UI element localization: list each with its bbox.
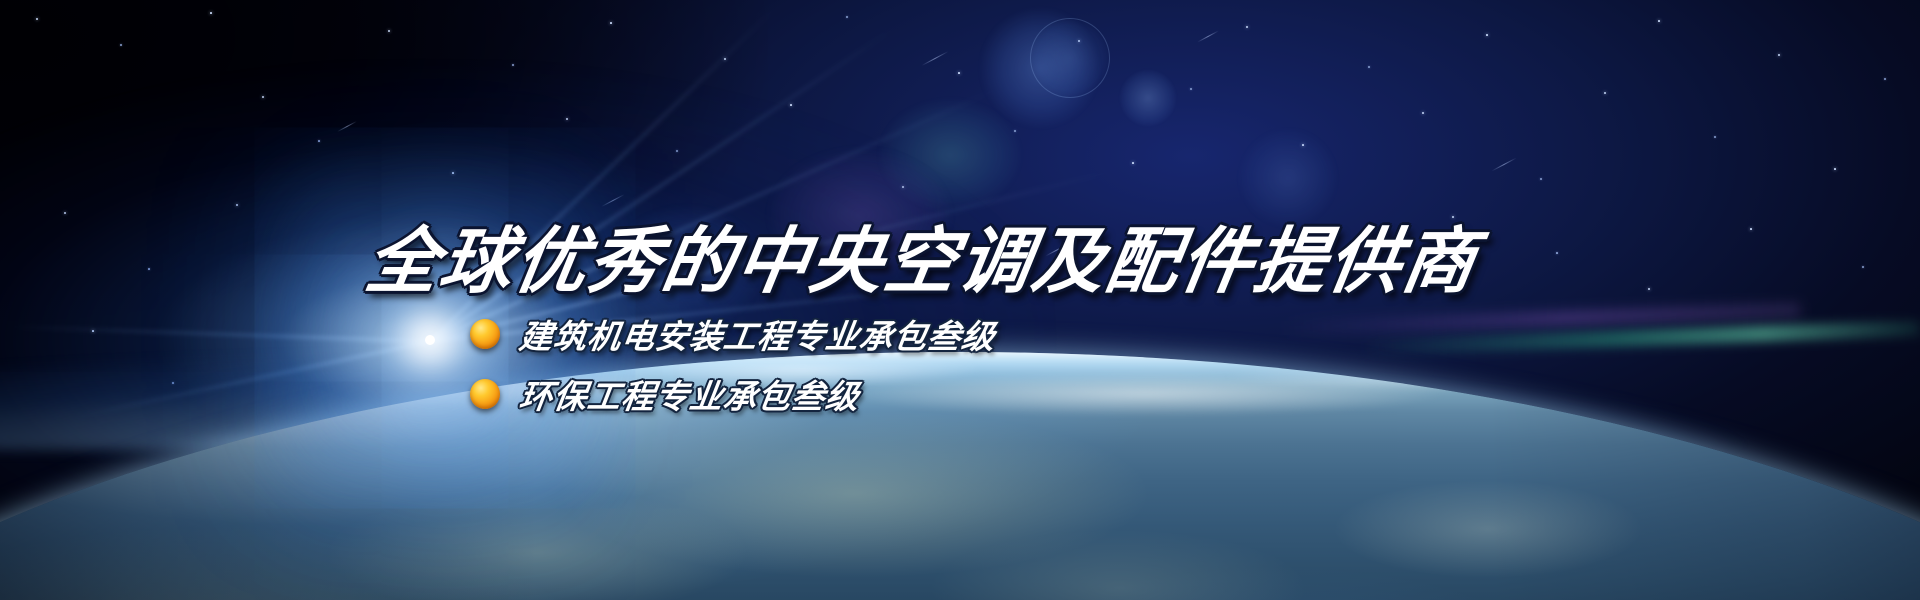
banner-content: 全球优秀的中央空调及配件提供商 建筑机电安装工程专业承包叁级 环保工程专业承包叁… <box>0 0 1920 600</box>
bullet-dot-icon <box>470 379 500 409</box>
banner-headline: 全球优秀的中央空调及配件提供商 <box>360 202 1487 307</box>
bullet-label: 建筑机电安装工程专业承包叁级 <box>517 310 1000 358</box>
hero-banner: 全球优秀的中央空调及配件提供商 建筑机电安装工程专业承包叁级 环保工程专业承包叁… <box>0 0 1920 600</box>
bullet-label: 环保工程专业承包叁级 <box>517 370 864 418</box>
list-item: 建筑机电安装工程专业承包叁级 <box>470 308 996 360</box>
bullet-dot-icon <box>470 319 500 349</box>
banner-bullet-list: 建筑机电安装工程专业承包叁级 环保工程专业承包叁级 <box>470 308 996 428</box>
list-item: 环保工程专业承包叁级 <box>470 368 996 420</box>
